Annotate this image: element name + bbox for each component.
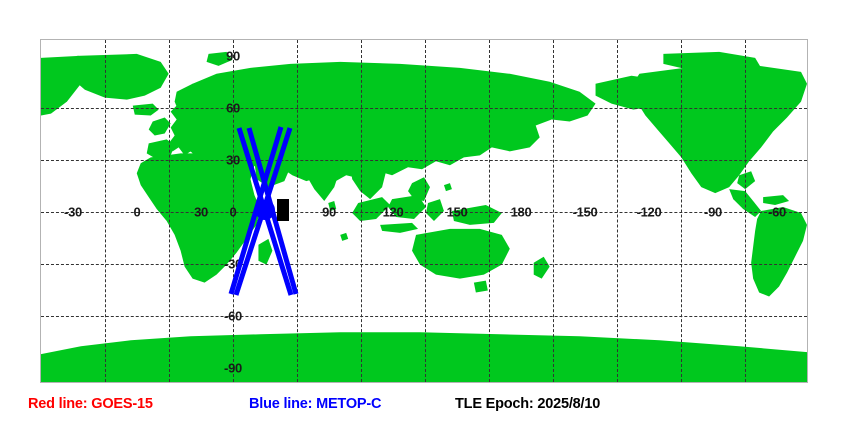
landmass-svg [41, 40, 807, 382]
new-zealand [534, 257, 550, 279]
southeast-asia [350, 161, 386, 199]
australia [412, 229, 510, 279]
pacific-islands-2 [444, 183, 452, 191]
pacific-islands [340, 233, 348, 241]
legend: Red line: GOES-15 Blue line: METOP-C TLE… [0, 396, 850, 420]
british-isles [149, 118, 171, 136]
lat-tick-label: 30 [226, 152, 240, 167]
lat-tick-label: 0 [230, 205, 237, 220]
lat-tick-label: -90 [224, 361, 242, 376]
madagascar [258, 239, 272, 265]
lon-tick-label: -30 [64, 205, 82, 220]
map-frame: -300306090120150180-150-120-90-609060300… [40, 39, 808, 383]
world-map-landmass [41, 40, 807, 382]
lat-tick-label: -30 [224, 257, 242, 272]
greenland [69, 54, 169, 100]
lat-tick-label: 60 [226, 100, 240, 115]
continents [41, 52, 807, 382]
lon-tick-label: -120 [637, 205, 662, 220]
legend-tle-epoch: TLE Epoch: 2025/8/10 [455, 396, 600, 412]
iceland [133, 104, 159, 116]
java [380, 223, 418, 233]
sulawesi [426, 199, 444, 221]
legend-red-line: Red line: GOES-15 [28, 396, 153, 412]
lon-tick-label: -60 [768, 205, 786, 220]
tasmania [474, 281, 488, 293]
lat-tick-label: -60 [224, 309, 242, 324]
north-america [631, 66, 807, 193]
lon-tick-label: 60 [258, 205, 272, 220]
canada-east-fringe [41, 56, 81, 116]
lon-tick-label: -150 [573, 205, 598, 220]
lon-tick-label: 90 [322, 205, 336, 220]
lon-tick-label: 0 [134, 205, 141, 220]
lon-tick-label: 180 [511, 205, 532, 220]
lon-tick-label: 30 [194, 205, 208, 220]
lon-tick-label: 150 [447, 205, 468, 220]
lon-tick-label: -90 [704, 205, 722, 220]
south-america [751, 207, 807, 296]
lon-tick-label: 120 [383, 205, 404, 220]
central-america [729, 189, 761, 217]
india [306, 159, 340, 201]
lat-tick-label: 90 [226, 48, 240, 63]
legend-blue-line: Blue line: METOP-C [249, 396, 381, 412]
antarctica [41, 332, 807, 382]
